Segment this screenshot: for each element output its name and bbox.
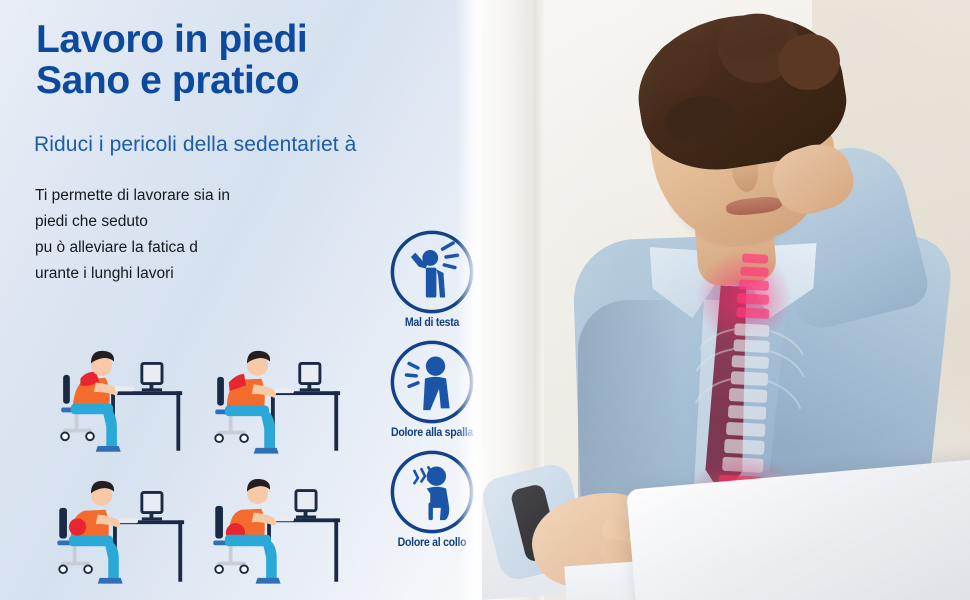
symptom-item-headache: Mal di testa <box>372 228 492 329</box>
symptom-item-shoulder: Dolore alla spalla <box>372 338 492 439</box>
seated-person <box>71 351 134 452</box>
seated-person <box>225 351 294 454</box>
desk-and-monitor <box>267 491 340 582</box>
page-title: Lavoro in piedi Sano e pratico <box>36 19 307 102</box>
symptom-label: Mal di testa <box>377 317 487 329</box>
symptom-item-neck: Dolore al collo <box>372 448 492 549</box>
symptom-icon-list: Mal di testa Dolore alla s <box>372 228 492 558</box>
desk-and-monitor <box>271 363 340 450</box>
subtitle: Riduci i pericoli della sedentariet à <box>34 133 356 157</box>
info-panel: Lavoro in piedi Sano e pratico Riduci i … <box>0 0 482 600</box>
posture-illustration-lumbar <box>198 464 342 591</box>
posture-illustration-shoulder <box>42 333 186 460</box>
body-text: Ti permette di lavorare sia in piedi che… <box>35 183 230 287</box>
seated-person <box>69 481 138 584</box>
desk-and-monitor <box>111 363 182 450</box>
symptom-label: Dolore al collo <box>377 537 487 549</box>
neck-pain-icon <box>388 448 476 536</box>
promotional-banner: Lavoro in piedi Sano e pratico Riduci i … <box>0 0 970 600</box>
hero-photo <box>482 0 970 600</box>
posture-illustration-upper-back <box>198 333 342 460</box>
photo-soft-light <box>482 0 970 600</box>
symptom-label: Dolore alla spalla <box>377 427 487 439</box>
headache-icon <box>388 228 476 316</box>
posture-illustration-lower-back <box>42 464 186 591</box>
posture-illustration-grid <box>42 333 342 591</box>
seated-person <box>225 479 294 584</box>
shoulder-pain-icon <box>388 338 476 426</box>
desk-and-monitor <box>113 492 184 581</box>
